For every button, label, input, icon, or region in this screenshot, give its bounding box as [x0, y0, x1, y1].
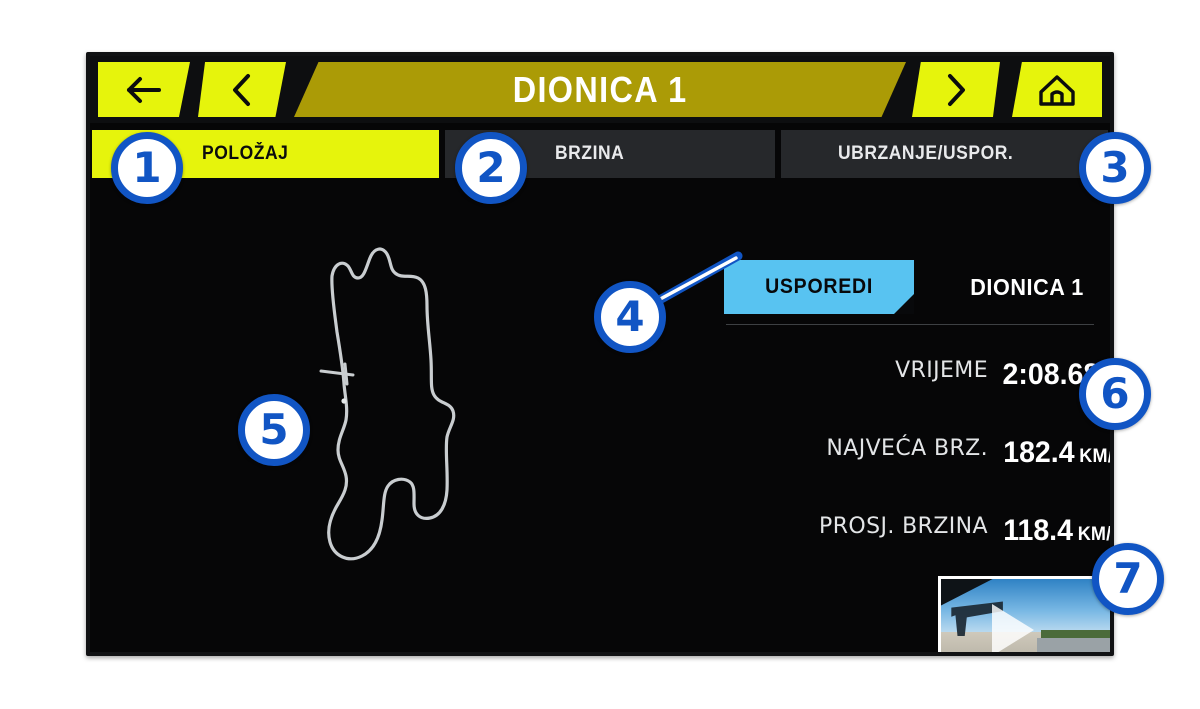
- tab-polozaj-label: POLOŽAJ: [202, 143, 288, 165]
- callout-badge-7-number: 7: [1113, 558, 1142, 600]
- callout-badge-5-number: 5: [259, 409, 288, 451]
- video-barrier: [1037, 638, 1110, 652]
- callout-badge-6-number: 6: [1100, 373, 1129, 415]
- tab-ubrzanje-uspor-label: UBRZANJE/USPOR.: [838, 143, 1013, 165]
- callout-badge-2-number: 2: [476, 147, 505, 189]
- next-button[interactable]: [912, 62, 1000, 117]
- video-thumbnail[interactable]: [938, 576, 1110, 652]
- track-outline-map: [290, 238, 490, 608]
- stat-unit-najveca-brz: KM/H: [1079, 446, 1110, 467]
- callout-badge-7: 7: [1092, 543, 1164, 615]
- home-button[interactable]: [1012, 62, 1102, 117]
- callout-badge-3: 3: [1079, 132, 1151, 204]
- stat-row: VRIJEME 2:08.68: [710, 358, 1110, 404]
- page-title: DIONICA 1: [513, 69, 688, 111]
- callout-badge-2: 2: [455, 132, 527, 204]
- callout-badge-1: 1: [111, 132, 183, 204]
- start-finish-marker: [341, 398, 346, 403]
- stat-value-prosj-brzina: 118.4KM/H: [1003, 514, 1110, 548]
- home-icon: [1037, 72, 1077, 108]
- lap-data-panel: USPOREDI DIONICA 1 VRIJEME 2:08.68 NAJVE…: [710, 178, 1110, 652]
- previous-button[interactable]: [198, 62, 286, 117]
- callout-badge-5: 5: [238, 394, 310, 466]
- tab-brzina-label: BRZINA: [555, 143, 624, 165]
- track-map-pane[interactable]: [90, 178, 710, 652]
- stat-label-vrijeme: VRIJEME: [895, 358, 988, 383]
- corner-triangle-icon: [894, 294, 914, 314]
- callout-badge-3-number: 3: [1100, 147, 1129, 189]
- stat-unit-prosj-brzina: KM/H: [1078, 524, 1110, 545]
- page-title-plate: DIONICA 1: [294, 62, 906, 117]
- stat-row: NAJVEĆA BRZ. 182.4KM/H: [710, 436, 1110, 482]
- tab-ubrzanje-uspor[interactable]: UBRZANJE/USPOR.: [781, 130, 1108, 178]
- chevron-left-icon: [229, 73, 255, 107]
- callout-badge-4-number: 4: [615, 296, 644, 338]
- stat-value-najveca-brz: 182.4KM/H: [1003, 436, 1110, 470]
- panel-divider: [726, 324, 1094, 325]
- play-triangle-icon[interactable]: [992, 604, 1034, 652]
- callout-badge-4: 4: [594, 281, 666, 353]
- stat-label-prosj-brzina: PROSJ. BRZINA: [819, 514, 988, 539]
- compare-button[interactable]: USPOREDI: [724, 260, 914, 314]
- lap-title: DIONICA 1: [949, 260, 1105, 314]
- back-button[interactable]: [98, 62, 190, 117]
- tab-bar: POLOŽAJ BRZINA UBRZANJE/USPOR.: [90, 130, 1110, 178]
- callout-badge-1-number: 1: [132, 147, 161, 189]
- chevron-right-icon: [943, 73, 969, 107]
- stat-row: PROSJ. BRZINA 118.4KM/H: [710, 514, 1110, 560]
- arrow-left-icon: [123, 74, 165, 106]
- device-screen: DIONICA 1 POLOŽAJ BRZINA UBRZANJE/USPOR.: [90, 56, 1110, 652]
- callout-badge-6: 6: [1079, 358, 1151, 430]
- header-bar: DIONICA 1: [90, 56, 1110, 123]
- stat-label-najveca-brz: NAJVEĆA BRZ.: [826, 436, 988, 461]
- compare-button-label: USPOREDI: [765, 275, 873, 299]
